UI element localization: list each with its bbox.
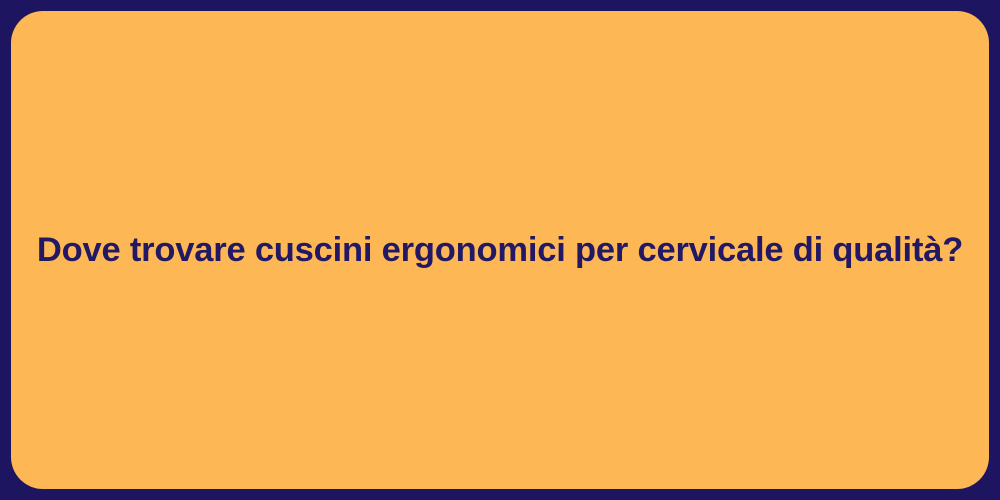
page-title: Dove trovare cuscini ergonomici per cerv… — [37, 228, 963, 273]
card-content-area: Dove trovare cuscini ergonomici per cerv… — [11, 228, 989, 273]
headline-card: Dove trovare cuscini ergonomici per cerv… — [11, 11, 989, 489]
page-background: Dove trovare cuscini ergonomici per cerv… — [0, 0, 1000, 500]
